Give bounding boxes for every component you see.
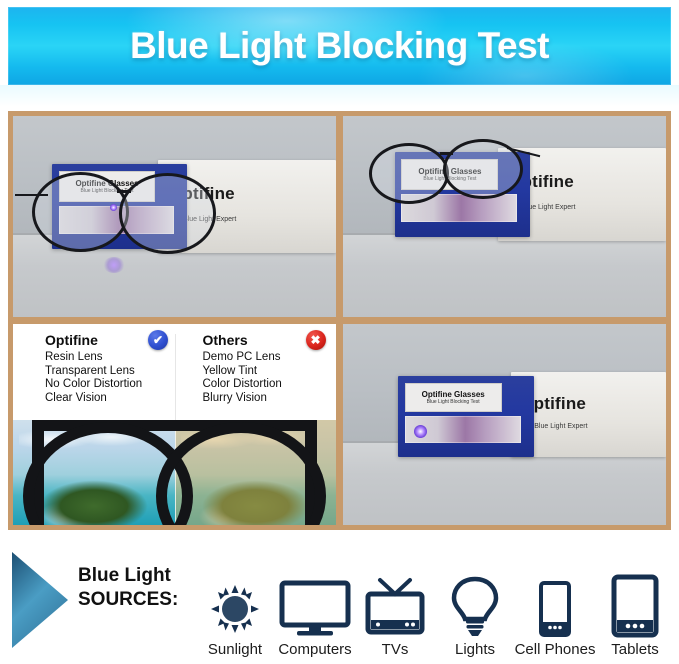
feature-item: No Color Distortion (45, 378, 142, 392)
photo-top-left: Optifine Anti Blue Light Expert Optifine… (13, 116, 336, 317)
uv-led-spot (414, 425, 427, 438)
blue-light-sources-section: Blue Light SOURCES: (0, 540, 679, 664)
bridge (440, 152, 453, 155)
sources-label-line1: Blue Light (78, 564, 178, 588)
product-box-side: Optifine Anti Blue Light Expert (511, 372, 666, 456)
phone-icon (538, 572, 572, 638)
right-lens (119, 173, 216, 253)
feature-item: Blurry Vision (203, 392, 282, 406)
check-icon: ✔ (153, 334, 163, 346)
sources-label-line2: SOURCES: (78, 588, 178, 612)
feature-item: Color Distortion (203, 378, 282, 392)
source-label-cell-phones: Cell Phones (515, 641, 596, 658)
feature-item: Yellow Tint (203, 365, 282, 379)
comparison-panel: Optifine ✔ Resin Lens Transparent Lens N… (13, 324, 336, 525)
feature-item: Resin Lens (45, 351, 142, 365)
sources-label: Blue Light SOURCES: (78, 564, 178, 612)
photo-grid: Optifine Anti Blue Light Expert Optifine… (8, 111, 671, 530)
source-item-computers: Computers (276, 572, 354, 658)
box-label-line1: Optifine Glasses (422, 390, 485, 399)
banner-background: Blue Light Blocking Test (8, 7, 671, 85)
source-item-lights: Lights (436, 572, 514, 658)
eyeglasses (19, 168, 226, 252)
sun-icon (207, 572, 263, 638)
tablet-icon (611, 572, 659, 638)
bulb-icon (450, 572, 500, 638)
comparison-features-right: Demo PC Lens Yellow Tint Color Distortio… (203, 351, 282, 405)
comparison-features-left: Resin Lens Transparent Lens No Color Dis… (45, 351, 142, 405)
uv-dot-desk (103, 257, 125, 273)
feature-item: Clear Vision (45, 392, 142, 406)
source-item-cell-phones: Cell Phones (516, 572, 594, 658)
source-item-tablets: Tablets (596, 572, 674, 658)
comparison-title-left: Optifine (45, 332, 98, 348)
bridge (117, 190, 131, 193)
monitor-icon (279, 572, 351, 638)
cloud (19, 428, 168, 451)
temple-arm (15, 194, 48, 196)
lens-comparison-scene (13, 420, 336, 525)
source-label-lights: Lights (455, 641, 495, 658)
product-box-front: Optifine Glasses Blue Light Blocking Tes… (398, 376, 534, 456)
source-label-tablets: Tablets (611, 641, 659, 658)
photo-desk (343, 233, 666, 317)
x-badge: ✖ (306, 330, 326, 350)
source-item-tvs: TVs (356, 572, 434, 658)
check-badge: ✔ (148, 330, 168, 350)
eyeglasses (362, 136, 530, 204)
feature-item: Transparent Lens (45, 365, 142, 379)
photo-bottom-right: Optifine Anti Blue Light Expert Optifine… (343, 324, 666, 525)
page-title: Blue Light Blocking Test (130, 25, 549, 67)
header-banner: Blue Light Blocking Test (0, 0, 679, 100)
scene-split-line (175, 420, 176, 525)
close-icon: ✖ (310, 334, 320, 346)
box-label-line2: Blue Light Blocking Test (427, 399, 480, 405)
left-lens (369, 143, 449, 204)
island-photo-clear (13, 420, 175, 525)
left-lens (32, 172, 129, 252)
banner-fade (0, 85, 679, 107)
box-label: Optifine Glasses Blue Light Blocking Tes… (405, 383, 502, 412)
scene-half-clear (13, 420, 175, 525)
product-infographic: Blue Light Blocking Test Optifine Anti B… (0, 0, 679, 664)
sources-icon-row: Sunlight Computers (196, 548, 674, 658)
source-label-computers: Computers (278, 641, 351, 658)
photo-bottom-left-comparison: Optifine ✔ Resin Lens Transparent Lens N… (13, 324, 336, 525)
photo-top-right: Optifine Anti Blue Light Expert Optifine… (343, 116, 666, 317)
comparison-header: Optifine ✔ Resin Lens Transparent Lens N… (13, 330, 336, 422)
feature-item: Demo PC Lens (203, 351, 282, 365)
scene-half-tinted (175, 420, 337, 525)
source-label-sunlight: Sunlight (208, 641, 262, 658)
comparison-title-right: Others (203, 332, 248, 348)
triangle-right-icon (12, 552, 68, 648)
yellow-tint-overlay (175, 420, 337, 525)
source-label-tvs: TVs (382, 641, 409, 658)
tv-icon (364, 572, 426, 638)
source-item-sunlight: Sunlight (196, 572, 274, 658)
comparison-divider (175, 334, 176, 428)
